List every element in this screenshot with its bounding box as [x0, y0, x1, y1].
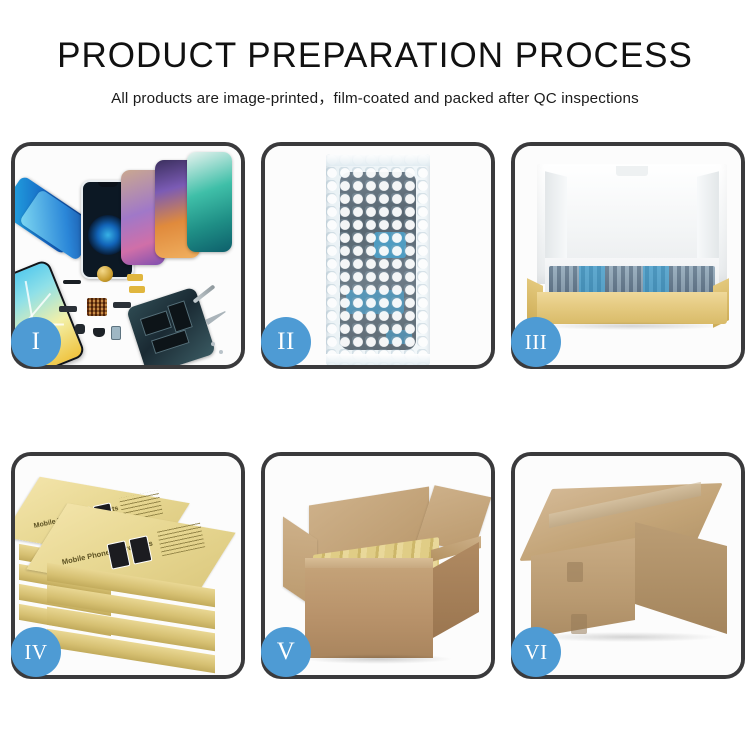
- battery-connector-icon: [111, 326, 121, 340]
- mesh-grid-part-icon: [87, 298, 107, 316]
- kraft-box-tray-icon: [537, 292, 727, 324]
- carton-shadow: [303, 654, 453, 664]
- speaker-bar-part-icon: [63, 280, 81, 284]
- process-step-panel-5[interactable]: V: [261, 452, 495, 679]
- box-shadow: [541, 322, 723, 330]
- lid-tab-icon: [616, 166, 648, 176]
- camera-module-icon: [75, 324, 85, 334]
- carton-tab-icon: [567, 562, 583, 582]
- bubble-wrap-bag-icon: [326, 154, 430, 365]
- bag-seal-bottom-icon: [326, 354, 430, 365]
- step-badge-3: III: [511, 317, 561, 367]
- step-badge-5: V: [261, 627, 311, 677]
- coil-part-icon: [97, 266, 113, 282]
- yellow-flex-cable-icon: [127, 274, 143, 281]
- step-badge-4: IV: [11, 627, 61, 677]
- flex-cable-icon: [59, 306, 77, 312]
- carton-front-icon: [305, 568, 433, 658]
- sealed-carton-scene: [531, 486, 733, 656]
- yellow-flex-cable-icon: [129, 286, 145, 293]
- step-badge-6: VI: [511, 627, 561, 677]
- bag-seal-top-icon: [326, 154, 430, 166]
- speaker-part-icon: [93, 328, 105, 337]
- process-step-panel-6[interactable]: VI: [511, 452, 745, 679]
- notch-icon: [98, 182, 118, 187]
- green-screen-icon: [187, 152, 232, 252]
- phone-back-housing-icon: [126, 287, 216, 365]
- bubbles-texture-icon: [326, 154, 430, 365]
- carton-right-face-icon: [635, 522, 727, 634]
- step-badge-1: I: [11, 317, 61, 367]
- process-step-panel-1[interactable]: I: [11, 142, 245, 369]
- process-step-grid: I II: [0, 0, 750, 750]
- step-badge-2: II: [261, 317, 311, 367]
- carton-shadow: [537, 632, 717, 642]
- screw-icon: [219, 350, 223, 354]
- chip-icon: [140, 310, 172, 336]
- flex-cable-icon: [113, 302, 131, 308]
- carton-filling-scene: [279, 484, 485, 668]
- screw-icon: [211, 342, 215, 346]
- process-step-panel-2[interactable]: II: [261, 142, 495, 369]
- chip-icon: [151, 330, 190, 354]
- tweezers-icon: [205, 309, 227, 325]
- process-step-panel-4[interactable]: Mobile Phone Spare Parts Mobile Phone Sp…: [11, 452, 245, 679]
- carton-tab-icon: [571, 614, 587, 634]
- process-step-panel-3[interactable]: III: [511, 142, 745, 369]
